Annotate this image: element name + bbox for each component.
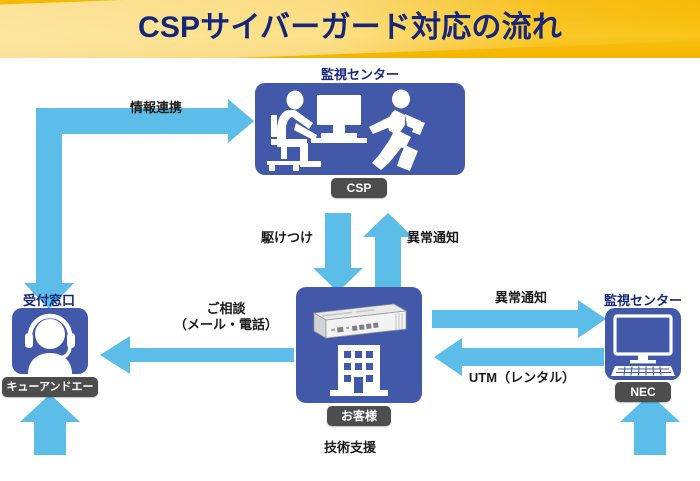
label-dispatch: 駆けつけ [249,230,325,246]
badge-customer[interactable]: お客様 [327,406,391,426]
label-consultation-line2: （メール・電話） [148,317,304,333]
desktop-monitor-icon [605,308,681,380]
title-banner: CSPサイバーガード対応の流れ [0,0,700,58]
caption-monitoring-center-csp: 監視センター [255,64,465,83]
label-consultation-line1: ご相談 [148,301,304,317]
label-alert-to-nec: 異常通知 [467,290,575,306]
caption-monitoring-center-nec: 監視センター [590,290,696,309]
caption-reception-desk: 受付窓口 [4,290,94,309]
headset-operator-icon [12,308,88,374]
label-consultation: ご相談 （メール・電話） [148,301,304,333]
badge-nec[interactable]: NEC [615,382,671,402]
badge-q-and-a[interactable]: キューアンドエー [2,377,98,397]
label-info-linkage: 情報連携 [96,100,216,116]
node-reception-desk[interactable] [12,308,88,374]
utm-appliance-icon [314,304,406,338]
diagram-canvas: CSPサイバーガード対応の流れ [0,0,700,481]
node-monitoring-center-csp[interactable] [255,83,465,175]
page-title: CSPサイバーガード対応の流れ [0,0,700,58]
label-alert-to-csp: 異常通知 [390,230,476,246]
utm-appliance-and-building-icon [296,287,422,403]
label-utm-rental: UTM（レンタル） [454,370,590,386]
arrow-dispatch-down [313,213,363,292]
node-monitoring-center-nec[interactable] [605,308,681,380]
label-tech-support: 技術支援 [292,440,408,456]
arrow-consultation-left [100,336,294,374]
office-building-icon [330,345,388,396]
badge-csp[interactable]: CSP [331,178,387,198]
operator-and-runner-icon [255,83,465,175]
arrow-info-linkage [36,99,254,275]
node-customer[interactable] [296,287,422,403]
arrow-alert-up-to-csp [363,213,413,292]
